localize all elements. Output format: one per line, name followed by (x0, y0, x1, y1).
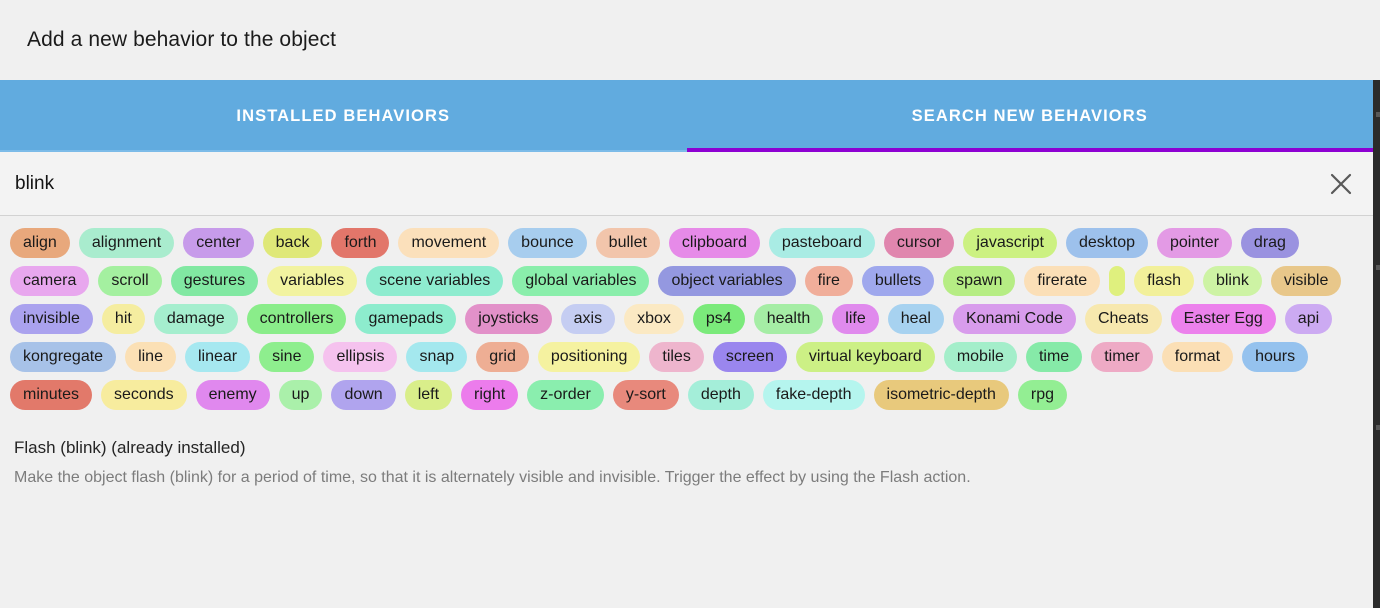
tag-fire[interactable]: fire (805, 266, 853, 296)
tag-left[interactable]: left (405, 380, 452, 410)
tag-movement[interactable]: movement (398, 228, 499, 258)
tag-variables[interactable]: variables (267, 266, 357, 296)
page-title: Add a new behavior to the object (27, 28, 336, 52)
tag-flash[interactable]: flash (1134, 266, 1194, 296)
tag-xbox[interactable]: xbox (624, 304, 684, 334)
tag-konami-code[interactable]: Konami Code (953, 304, 1076, 334)
tag-blink[interactable]: blink (1203, 266, 1262, 296)
tag-enemy[interactable]: enemy (196, 380, 270, 410)
tag-ps4[interactable]: ps4 (693, 304, 745, 334)
tag-z-order[interactable]: z-order (527, 380, 604, 410)
clear-search-button[interactable] (1309, 152, 1373, 216)
tag-javascript[interactable]: javascript (963, 228, 1057, 258)
search-results: Flash (blink) (already installed) Make t… (0, 416, 1373, 608)
tag-y-sort[interactable]: y-sort (613, 380, 679, 410)
tag-virtual-keyboard[interactable]: virtual keyboard (796, 342, 935, 372)
add-behavior-dialog: Add a new behavior to the object INSTALL… (0, 0, 1380, 608)
tag-scroll[interactable]: scroll (98, 266, 161, 296)
search-bar (0, 152, 1373, 216)
scroll-notch-top (1376, 112, 1380, 117)
vertical-scrollbar[interactable] (1373, 80, 1380, 608)
tab-search-new-behaviors-label: SEARCH NEW BEHAVIORS (912, 107, 1148, 126)
tag-axis[interactable]: axis (561, 304, 615, 334)
tag-bounce[interactable]: bounce (508, 228, 587, 258)
search-input[interactable] (0, 172, 1309, 196)
tag-pointer[interactable]: pointer (1157, 228, 1232, 258)
close-icon (1328, 171, 1354, 197)
tag-bullet[interactable]: bullet (596, 228, 660, 258)
tab-installed-behaviors[interactable]: INSTALLED BEHAVIORS (0, 80, 687, 152)
tag-kongregate[interactable]: kongregate (10, 342, 116, 372)
tag-empty[interactable] (1109, 266, 1125, 296)
tag-cursor[interactable]: cursor (884, 228, 954, 258)
tag-gestures[interactable]: gestures (171, 266, 258, 296)
tag-scene-variables[interactable]: scene variables (366, 266, 503, 296)
tag-api[interactable]: api (1285, 304, 1332, 334)
tag-desktop[interactable]: desktop (1066, 228, 1148, 258)
tab-search-new-behaviors[interactable]: SEARCH NEW BEHAVIORS (687, 80, 1374, 152)
scroll-notch-bottom (1376, 425, 1380, 430)
tag-clipboard[interactable]: clipboard (669, 228, 760, 258)
tag-visible[interactable]: visible (1271, 266, 1341, 296)
tag-hit[interactable]: hit (102, 304, 145, 334)
tag-sine[interactable]: sine (259, 342, 314, 372)
tag-pasteboard[interactable]: pasteboard (769, 228, 875, 258)
tag-right[interactable]: right (461, 380, 518, 410)
tag-align[interactable]: align (10, 228, 70, 258)
tag-alignment[interactable]: alignment (79, 228, 174, 258)
tag-up[interactable]: up (279, 380, 323, 410)
tag-minutes[interactable]: minutes (10, 380, 92, 410)
tag-seconds[interactable]: seconds (101, 380, 187, 410)
tag-bullets[interactable]: bullets (862, 266, 934, 296)
tag-cloud: alignalignmentcenterbackforthmovementbou… (0, 216, 1373, 416)
tag-spawn[interactable]: spawn (943, 266, 1015, 296)
tag-tiles[interactable]: tiles (649, 342, 703, 372)
tag-mobile[interactable]: mobile (944, 342, 1017, 372)
tag-time[interactable]: time (1026, 342, 1082, 372)
tag-line[interactable]: line (125, 342, 176, 372)
tag-invisible[interactable]: invisible (10, 304, 93, 334)
tag-positioning[interactable]: positioning (538, 342, 641, 372)
scroll-notch-middle (1376, 265, 1380, 270)
scrollbar-thumb[interactable] (1373, 80, 1380, 380)
tag-cheats[interactable]: Cheats (1085, 304, 1162, 334)
tag-gamepads[interactable]: gamepads (355, 304, 456, 334)
tag-down[interactable]: down (331, 380, 395, 410)
tag-global-variables[interactable]: global variables (512, 266, 649, 296)
tag-heal[interactable]: heal (888, 304, 944, 334)
tag-back[interactable]: back (263, 228, 323, 258)
tag-easter-egg[interactable]: Easter Egg (1171, 304, 1276, 334)
tag-rpg[interactable]: rpg (1018, 380, 1067, 410)
tag-controllers[interactable]: controllers (247, 304, 347, 334)
tag-damage[interactable]: damage (154, 304, 238, 334)
tag-firerate[interactable]: firerate (1024, 266, 1100, 296)
tag-fake-depth[interactable]: fake-depth (763, 380, 865, 410)
tag-ellipsis[interactable]: ellipsis (323, 342, 397, 372)
tag-linear[interactable]: linear (185, 342, 250, 372)
tag-snap[interactable]: snap (406, 342, 467, 372)
tag-grid[interactable]: grid (476, 342, 529, 372)
tab-installed-behaviors-label: INSTALLED BEHAVIORS (236, 107, 450, 126)
tag-timer[interactable]: timer (1091, 342, 1153, 372)
tag-joysticks[interactable]: joysticks (465, 304, 551, 334)
result-description: Make the object flash (blink) for a peri… (14, 467, 1359, 489)
tag-depth[interactable]: depth (688, 380, 754, 410)
tag-health[interactable]: health (754, 304, 824, 334)
tag-format[interactable]: format (1162, 342, 1233, 372)
tag-forth[interactable]: forth (331, 228, 389, 258)
dialog-header: Add a new behavior to the object (0, 0, 1380, 80)
result-title: Flash (blink) (already installed) (14, 438, 1359, 458)
tag-object-variables[interactable]: object variables (658, 266, 795, 296)
tag-drag[interactable]: drag (1241, 228, 1299, 258)
tag-camera[interactable]: camera (10, 266, 89, 296)
tag-screen[interactable]: screen (713, 342, 787, 372)
tag-hours[interactable]: hours (1242, 342, 1308, 372)
tag-isometric-depth[interactable]: isometric-depth (874, 380, 1009, 410)
tab-bar: INSTALLED BEHAVIORS SEARCH NEW BEHAVIORS (0, 80, 1373, 152)
tag-center[interactable]: center (183, 228, 253, 258)
tag-life[interactable]: life (832, 304, 878, 334)
